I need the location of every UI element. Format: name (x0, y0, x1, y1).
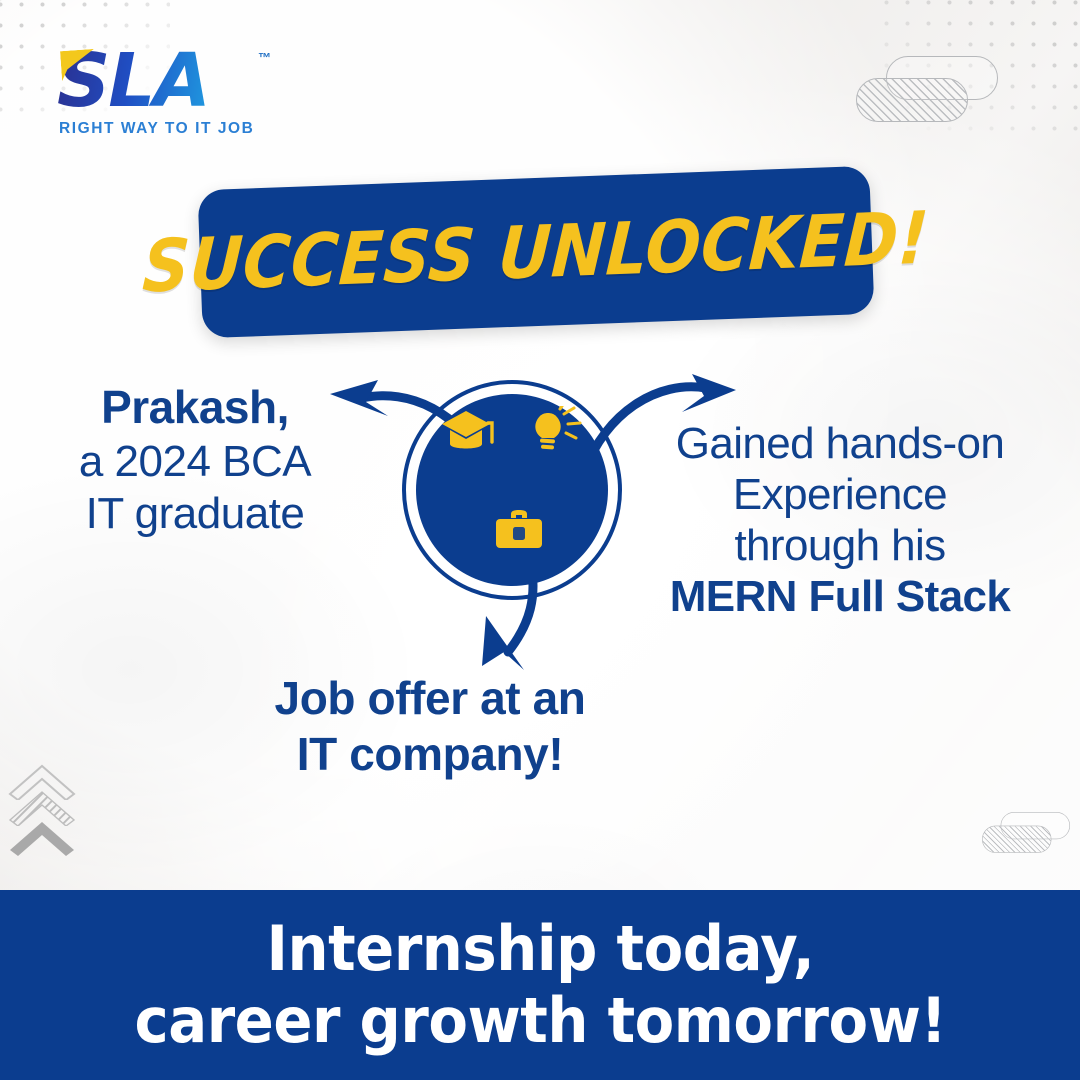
chevron-solid-icon (6, 816, 78, 856)
central-badge (402, 380, 622, 600)
story-right-block: Gained hands-on Experience through his M… (620, 418, 1060, 622)
briefcase-icon (494, 508, 544, 552)
lightbulb-idea-icon (530, 406, 584, 456)
brand-logo[interactable]: SLA ™ RIGHT WAY TO IT JOB (57, 44, 267, 144)
footer-line-1: Internship today, (134, 913, 946, 985)
course-name: MERN Full Stack (620, 571, 1060, 622)
story-bottom-block: Job offer at an IT company! (190, 670, 670, 782)
trademark-symbol: ™ (258, 50, 271, 65)
graduation-cap-icon (440, 406, 498, 454)
student-detail-line-2: IT graduate (30, 488, 360, 540)
outcome-line-1: Job offer at an (190, 670, 670, 726)
pill-hatched-shape (982, 826, 1051, 853)
footer-line-2: career growth tomorrow! (134, 985, 946, 1057)
story-left-block: Prakash, a 2024 BCA IT graduate (30, 378, 360, 540)
stacked-chevrons-decoration (6, 760, 92, 870)
footer-banner: Internship today, career growth tomorrow… (0, 890, 1080, 1080)
experience-line-1: Gained hands-on (620, 418, 1060, 469)
experience-line-2: Experience (620, 469, 1060, 520)
pill-hatched-shape (856, 78, 968, 122)
brand-tagline: RIGHT WAY TO IT JOB (59, 120, 254, 138)
experience-line-3: through his (620, 520, 1060, 571)
student-name: Prakash, (30, 378, 360, 436)
outcome-line-2: IT company! (190, 726, 670, 782)
headline-text: SUCCESS UNLOCKED! (141, 201, 931, 302)
student-detail-line-1: a 2024 BCA (30, 436, 360, 488)
headline-banner: SUCCESS UNLOCKED! (198, 166, 875, 339)
poster-canvas: SLA ™ RIGHT WAY TO IT JOB SUCCESS UNLOCK… (0, 0, 1080, 1080)
footer-text: Internship today, career growth tomorrow… (134, 913, 946, 1057)
